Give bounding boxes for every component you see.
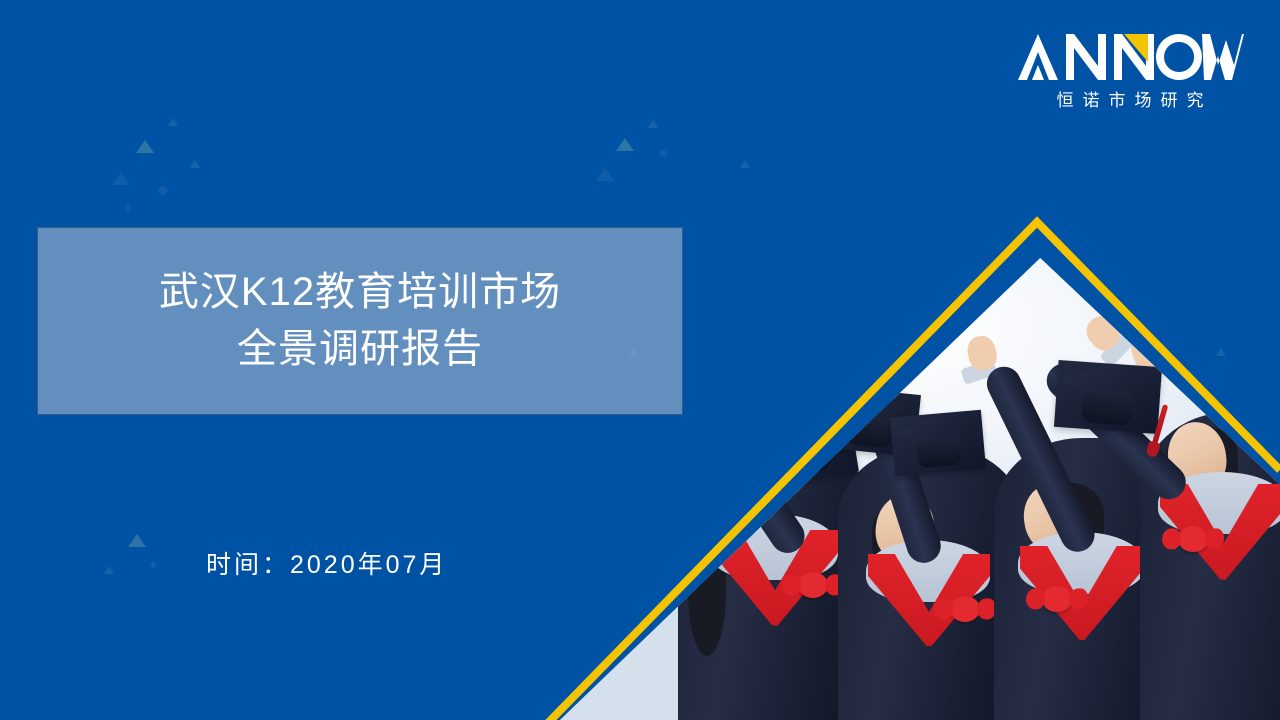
presentation-cover-slide: 武汉K12教育培训市场 全景调研报告 时间：2020年07月 恒诺市场研究: [0, 0, 1280, 720]
page-title-line-2: 全景调研报告: [237, 327, 483, 372]
page-title-line-1: 武汉K12教育培训市场: [159, 270, 561, 315]
decor-triangle-icon: [128, 534, 146, 547]
decor-triangle-icon: [112, 172, 130, 185]
report-date: 时间：2020年07月: [206, 545, 447, 581]
decor-dot: [660, 150, 667, 157]
decor-triangle-icon: [648, 120, 658, 128]
graduation-cap: [1054, 360, 1162, 434]
decor-dot: [150, 562, 156, 568]
graduation-cap: [890, 410, 986, 477]
decor-triangle-icon: [616, 138, 634, 151]
decor-triangle-icon: [740, 160, 750, 168]
decor-triangle-icon: [1216, 348, 1226, 356]
decor-dot: [158, 186, 167, 195]
title-card: 武汉K12教育培训市场 全景调研报告: [37, 227, 683, 415]
decor-triangle-icon: [168, 118, 178, 126]
decor-triangle-icon: [136, 140, 154, 153]
annow-wordmark-icon: [1016, 32, 1244, 82]
decor-dot: [125, 205, 131, 211]
brand-logo: 恒诺市场研究: [1016, 32, 1244, 111]
brand-subtitle: 恒诺市场研究: [1016, 86, 1244, 111]
decor-triangle-icon: [190, 160, 200, 168]
decor-triangle-icon: [104, 566, 114, 574]
decor-triangle-icon: [596, 168, 614, 181]
